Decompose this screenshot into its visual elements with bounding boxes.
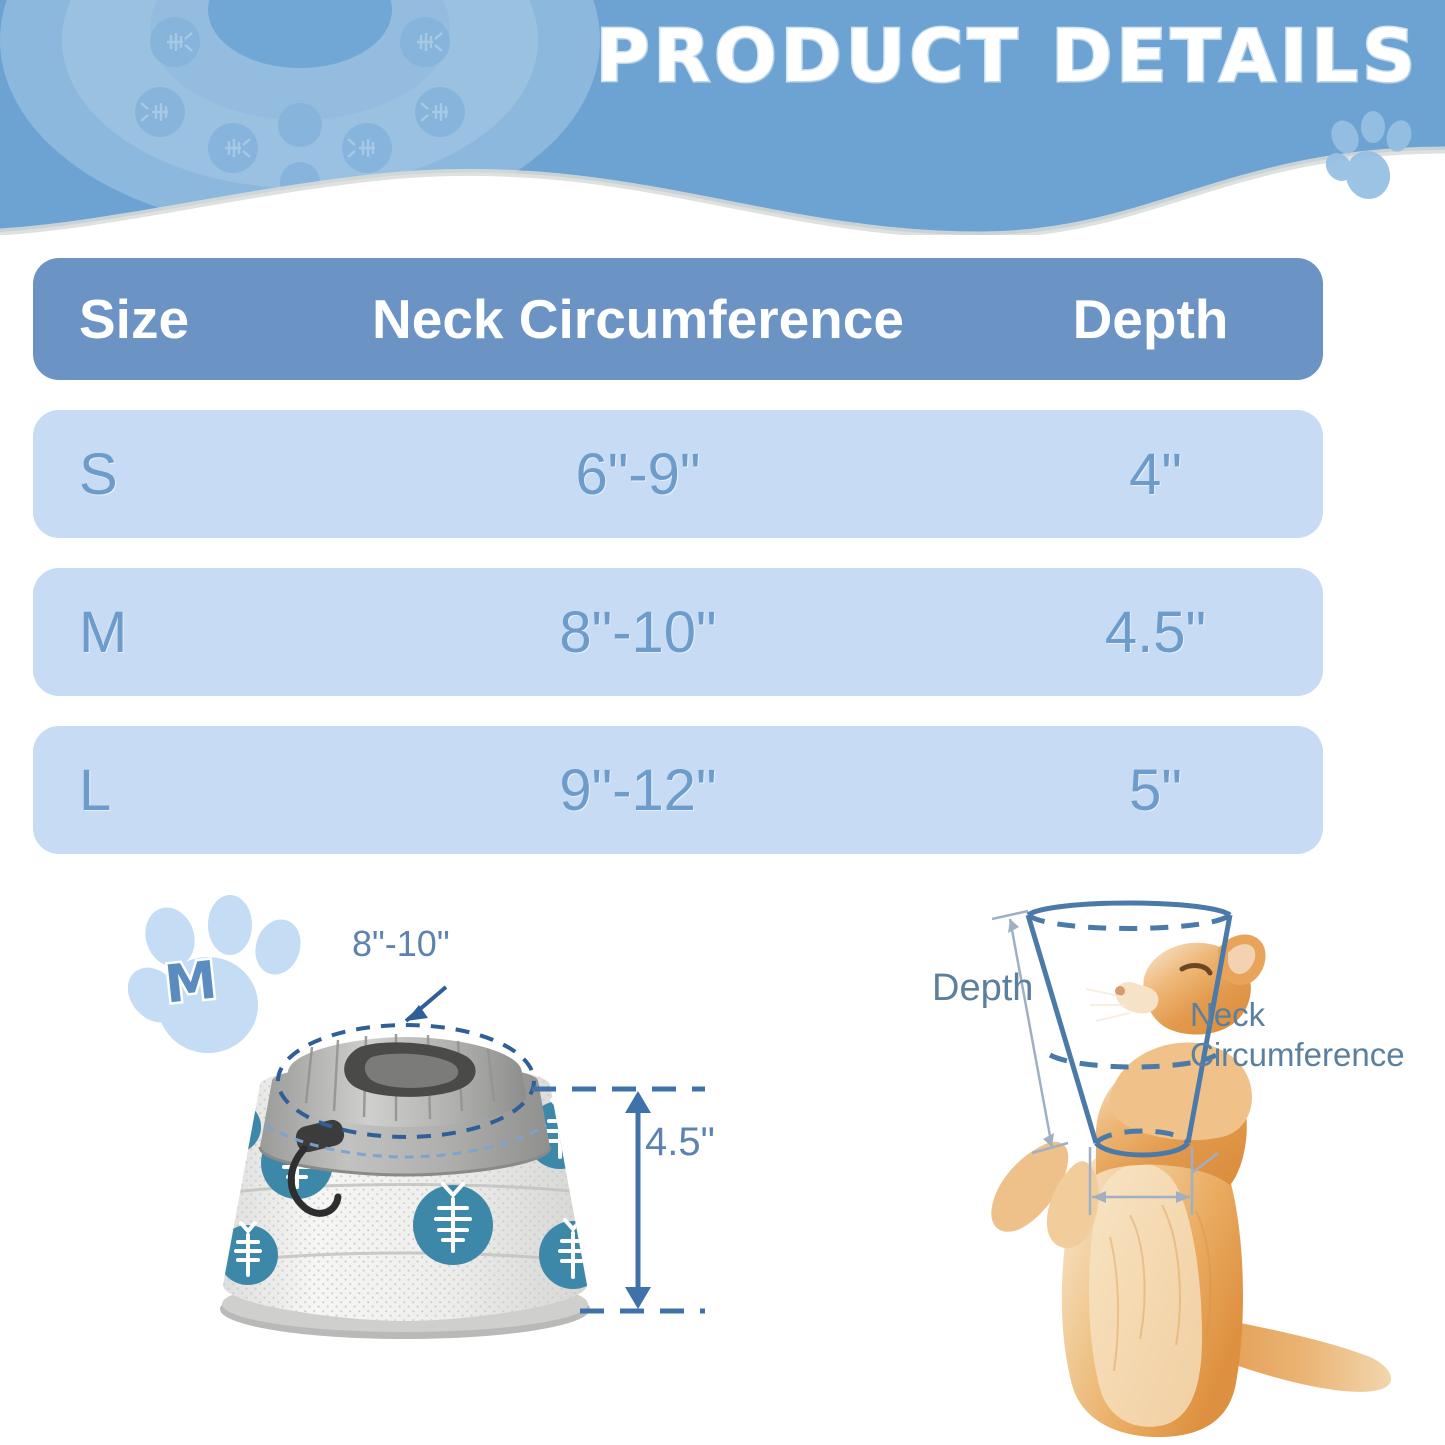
size-chart-table: Size Neck Circumference Depth S 6"-9" 4"… (33, 258, 1323, 854)
recovery-cone-icon (209, 1034, 610, 1339)
table-header-row: Size Neck Circumference Depth (33, 258, 1323, 380)
page-title: PRODUCT DETAILS (566, 8, 1445, 103)
size-badge-letter: M (162, 950, 220, 1015)
cell-neck: 9"-12" (288, 757, 988, 824)
neck-dimension-label: 8"-10" (352, 923, 450, 965)
column-header-neck: Neck Circumference (288, 287, 988, 351)
cell-depth: 4.5" (988, 599, 1323, 666)
column-header-size: Size (33, 287, 288, 351)
cell-depth: 4" (988, 441, 1323, 508)
column-header-depth: Depth (988, 287, 1323, 351)
product-measurement-diagram: 8"-10" 4.5" M (60, 895, 760, 1395)
cell-size: M (33, 599, 288, 666)
depth-dimension-arrow (992, 911, 1068, 1153)
depth-label: Depth (932, 967, 1033, 1010)
depth-dimension-label: 4.5" (645, 1120, 715, 1165)
cell-neck: 8"-10" (288, 599, 988, 666)
table-row: M 8"-10" 4.5" (33, 568, 1323, 696)
cat-measurement-diagram: Depth Neck Circumference (900, 885, 1445, 1445)
neck-circumference-label: Neck Circumference (1190, 995, 1405, 1075)
header-banner: PRODUCT DETAILS (0, 0, 1445, 235)
table-row: L 9"-12" 5" (33, 726, 1323, 854)
cell-depth: 5" (988, 757, 1323, 824)
table-row: S 6"-9" 4" (33, 410, 1323, 538)
cell-size: S (33, 441, 288, 508)
cell-neck: 6"-9" (288, 441, 988, 508)
cell-size: L (33, 757, 288, 824)
